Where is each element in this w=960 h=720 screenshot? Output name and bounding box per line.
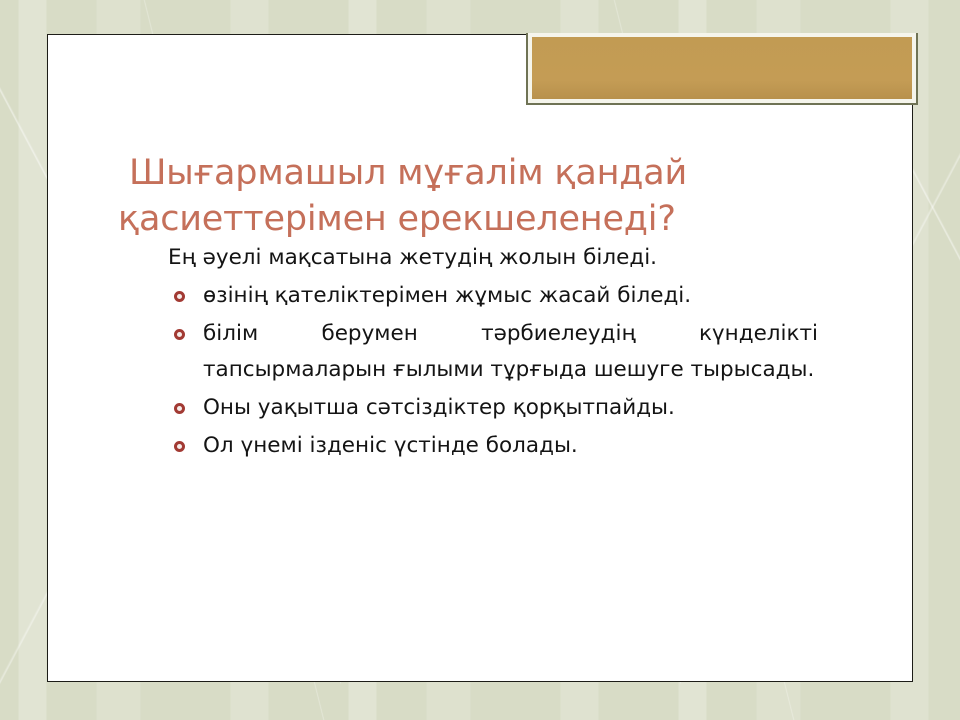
- ring-bullet-icon: [174, 403, 185, 414]
- bullet-list: өзінің қателіктерімен жұмыс жасай біледі…: [118, 278, 818, 464]
- list-item: білім берумен тәрбиелеудің күнделікті та…: [118, 316, 818, 388]
- ring-bullet-icon: [174, 329, 185, 340]
- ring-bullet-icon: [174, 441, 185, 452]
- body-lead-line: Ең әуелі мақсатына жетудің жолын біледі.: [118, 240, 818, 276]
- list-item: өзінің қателіктерімен жұмыс жасай біледі…: [118, 278, 818, 314]
- list-item-label: білім берумен тәрбиелеудің күнделікті та…: [203, 321, 818, 382]
- slide-title: Шығармашыл мұғалім қандай қасиеттерімен …: [118, 150, 858, 242]
- list-item-label: Оны уақытша сәтсіздіктер қорқытпайды.: [203, 395, 675, 420]
- ring-bullet-icon: [174, 291, 185, 302]
- slide-content-panel: Шығармашыл мұғалім қандай қасиеттерімен …: [47, 34, 913, 682]
- list-item: Оны уақытша сәтсіздіктер қорқытпайды.: [118, 390, 818, 426]
- list-item: Ол үнемі ізденіс үстінде болады.: [118, 428, 818, 464]
- gold-accent-fill: [532, 37, 912, 99]
- presentation-slide: Шығармашыл мұғалім қандай қасиеттерімен …: [0, 0, 960, 720]
- gold-accent-bar: [526, 33, 918, 105]
- list-item-label: өзінің қателіктерімен жұмыс жасай біледі…: [203, 283, 691, 308]
- list-item-label: Ол үнемі ізденіс үстінде болады.: [203, 433, 578, 458]
- slide-body: Ең әуелі мақсатына жетудің жолын біледі.…: [118, 240, 818, 466]
